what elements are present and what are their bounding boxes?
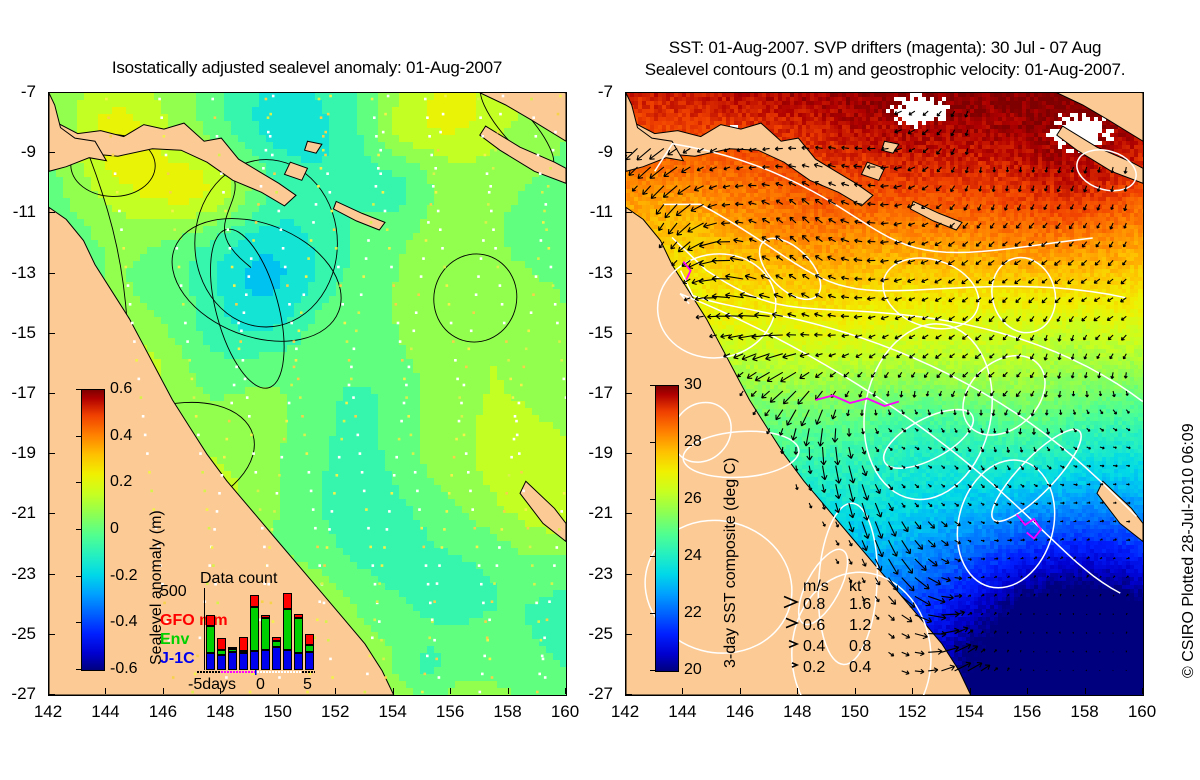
x-tick-mark bbox=[565, 688, 566, 694]
colorbar-tick-mark bbox=[76, 436, 82, 437]
colorbar-tick-label: -0.4 bbox=[110, 613, 138, 631]
x-tick-mark bbox=[335, 688, 336, 694]
inset-bar-segment bbox=[261, 615, 270, 618]
y-tick-label: -9 bbox=[21, 142, 36, 162]
x-tick-label: 144 bbox=[91, 702, 119, 722]
right-panel-title-line2: Sealevel contours (0.1 m) and geostrophi… bbox=[605, 60, 1165, 80]
inset-bar-segment bbox=[272, 641, 281, 647]
y-tick-label: -27 bbox=[11, 684, 36, 704]
velocity-key-kt-value: 0.4 bbox=[849, 659, 871, 677]
colorbar-tick-label: -0.2 bbox=[110, 567, 138, 585]
inset-bar-segment bbox=[294, 614, 303, 618]
x-tick-mark bbox=[970, 688, 971, 694]
colorbar-tick-mark bbox=[76, 622, 82, 623]
x-tick-label: 142 bbox=[34, 702, 62, 722]
inset-bar bbox=[250, 588, 259, 670]
y-tick-mark bbox=[625, 513, 632, 514]
colorbar-tick-mark bbox=[650, 613, 656, 614]
y-tick-mark bbox=[625, 212, 632, 213]
colorbar-tick-mark bbox=[650, 499, 656, 500]
inset-bar-segment bbox=[283, 593, 292, 608]
x-tick-mark bbox=[740, 688, 741, 694]
inset-bar bbox=[305, 588, 314, 670]
y-tick-mark bbox=[625, 453, 632, 454]
x-tick-label: 154 bbox=[955, 702, 983, 722]
y-tick-mark bbox=[48, 333, 55, 334]
x-tick-mark bbox=[855, 688, 856, 694]
y-tick-label: -15 bbox=[11, 323, 36, 343]
y-tick-mark bbox=[48, 574, 55, 575]
inset-bar-segment bbox=[250, 607, 259, 651]
inset-xlabel-left: -5days bbox=[188, 676, 236, 694]
x-tick-mark bbox=[278, 688, 279, 694]
data-count-inset: Data count 500 GFO mm Env J-1C -5days 0 … bbox=[160, 570, 320, 690]
x-tick-mark bbox=[450, 688, 451, 694]
inset-title: Data count bbox=[200, 570, 277, 588]
inset-ymax-label: 500 bbox=[160, 583, 187, 601]
inset-bars bbox=[205, 588, 315, 670]
inset-bar-segment bbox=[217, 638, 226, 650]
colorbar-tick-label: 26 bbox=[684, 490, 702, 508]
y-tick-mark bbox=[625, 152, 632, 153]
y-tick-mark bbox=[625, 333, 632, 334]
x-tick-mark bbox=[682, 688, 683, 694]
inset-bar-segment bbox=[228, 652, 237, 670]
inset-xlabel-right: 5 bbox=[303, 676, 312, 694]
csiro-credit: © CSIRO Plotted 28-Jul-2010 06:09 bbox=[1180, 423, 1198, 678]
y-tick-mark bbox=[48, 634, 55, 635]
y-tick-label: -19 bbox=[11, 443, 36, 463]
inset-bar bbox=[239, 588, 248, 670]
colorbar-tick-label: 22 bbox=[684, 604, 702, 622]
y-tick-label: -15 bbox=[588, 323, 613, 343]
colorbar-tick-label: 30 bbox=[684, 376, 702, 394]
x-tick-label: 160 bbox=[551, 702, 579, 722]
x-tick-label: 156 bbox=[1013, 702, 1041, 722]
inset-legend-env: Env bbox=[160, 631, 189, 649]
y-tick-label: -9 bbox=[598, 142, 613, 162]
velocity-key-header-ms: m/s bbox=[803, 578, 829, 596]
y-tick-mark bbox=[625, 92, 632, 93]
inset-bar-segment bbox=[283, 609, 292, 650]
x-tick-mark bbox=[1085, 688, 1086, 694]
colorbar-tick-label: 28 bbox=[684, 433, 702, 451]
x-tick-label: 158 bbox=[493, 702, 521, 722]
inset-bar-segment bbox=[228, 649, 237, 652]
colorbar-tick-label: 20 bbox=[684, 661, 702, 679]
right-panel-title-line1: SST: 01-Aug-2007. SVP drifters (magenta)… bbox=[605, 38, 1165, 58]
x-tick-label: 150 bbox=[264, 702, 292, 722]
y-tick-mark bbox=[625, 273, 632, 274]
y-tick-mark bbox=[48, 212, 55, 213]
sst-colorbar bbox=[655, 385, 679, 672]
x-tick-label: 156 bbox=[436, 702, 464, 722]
y-tick-label: -13 bbox=[588, 263, 613, 283]
inset-bar-segment bbox=[206, 626, 215, 652]
y-tick-mark bbox=[625, 694, 632, 695]
colorbar-tick-label: 0.4 bbox=[110, 427, 132, 445]
colorbar-tick-mark bbox=[650, 385, 656, 386]
x-tick-mark bbox=[508, 688, 509, 694]
colorbar-tick-label: 0.6 bbox=[110, 380, 132, 398]
inset-bar bbox=[261, 588, 270, 670]
sealevel-anomaly-colorbar bbox=[81, 389, 105, 671]
x-tick-mark bbox=[1142, 688, 1143, 694]
y-tick-label: -23 bbox=[11, 564, 36, 584]
y-tick-mark bbox=[48, 92, 55, 93]
inset-bar-segment bbox=[305, 652, 314, 670]
x-tick-mark bbox=[912, 688, 913, 694]
colorbar-tick-mark bbox=[650, 442, 656, 443]
inset-bar-segment bbox=[206, 615, 215, 626]
inset-x-axis bbox=[197, 670, 315, 675]
y-tick-mark bbox=[625, 574, 632, 575]
y-tick-label: -25 bbox=[11, 624, 36, 644]
y-tick-mark bbox=[48, 273, 55, 274]
x-tick-label: 150 bbox=[841, 702, 869, 722]
x-tick-mark bbox=[105, 688, 106, 694]
left-panel-title: Isostatically adjusted sealevel anomaly:… bbox=[48, 58, 566, 78]
colorbar-tick-label: -0.6 bbox=[110, 660, 138, 678]
x-tick-label: 158 bbox=[1070, 702, 1098, 722]
x-tick-label: 152 bbox=[321, 702, 349, 722]
x-tick-label: 148 bbox=[206, 702, 234, 722]
y-tick-mark bbox=[625, 393, 632, 394]
y-tick-label: -11 bbox=[13, 202, 36, 222]
velocity-key-kt-value: 1.6 bbox=[849, 596, 871, 614]
y-tick-label: -21 bbox=[11, 503, 36, 523]
x-tick-label: 144 bbox=[668, 702, 696, 722]
y-tick-mark bbox=[48, 513, 55, 514]
velocity-key-arrows bbox=[775, 594, 805, 670]
x-tick-label: 146 bbox=[726, 702, 754, 722]
y-tick-label: -17 bbox=[11, 383, 36, 403]
y-tick-label: -23 bbox=[588, 564, 613, 584]
x-tick-mark bbox=[163, 688, 164, 694]
x-tick-mark bbox=[393, 688, 394, 694]
y-tick-mark bbox=[48, 152, 55, 153]
inset-bar bbox=[206, 588, 215, 670]
x-tick-mark bbox=[220, 688, 221, 694]
inset-bar-segment bbox=[239, 653, 248, 670]
y-tick-label: -25 bbox=[588, 624, 613, 644]
inset-bar-segment bbox=[283, 650, 292, 670]
y-tick-mark bbox=[48, 694, 55, 695]
inset-xlabel-center: 0 bbox=[256, 676, 265, 694]
inset-bar-segment bbox=[239, 651, 248, 653]
inset-bar-segment bbox=[250, 595, 259, 607]
velocity-key-ms-value: 0.6 bbox=[803, 617, 825, 635]
inset-bar-segment bbox=[272, 637, 281, 641]
inset-bar-segment bbox=[217, 655, 226, 670]
velocity-key: m/s kt 0.81.60.61.20.40.80.20.4 bbox=[775, 578, 905, 668]
inset-legend-j1c: J-1C bbox=[160, 650, 195, 668]
inset-bar bbox=[294, 588, 303, 670]
x-tick-label: 142 bbox=[611, 702, 639, 722]
colorbar-tick-label: 24 bbox=[684, 547, 702, 565]
inset-bar-segment bbox=[305, 645, 314, 651]
velocity-key-header-kt: kt bbox=[849, 578, 861, 596]
inset-bar-segment bbox=[294, 653, 303, 670]
inset-bar-segment bbox=[305, 634, 314, 645]
colorbar-tick-mark bbox=[650, 556, 656, 557]
y-tick-mark bbox=[48, 453, 55, 454]
x-tick-mark bbox=[1027, 688, 1028, 694]
colorbar-tick-mark bbox=[76, 529, 82, 530]
inset-bar-segment bbox=[239, 637, 248, 651]
inset-bar-segment bbox=[206, 653, 215, 670]
colorbar-tick-mark bbox=[650, 670, 656, 671]
x-tick-label: 146 bbox=[149, 702, 177, 722]
colorbar-tick-mark bbox=[76, 389, 82, 390]
y-tick-label: -13 bbox=[11, 263, 36, 283]
colorbar-tick-mark bbox=[76, 669, 82, 670]
y-tick-label: -17 bbox=[588, 383, 613, 403]
inset-bar-segment bbox=[228, 647, 237, 649]
inset-bar-segment bbox=[250, 651, 259, 670]
velocity-key-ms-value: 0.4 bbox=[803, 638, 825, 656]
inset-bar-segment bbox=[294, 618, 303, 653]
colorbar-tick-mark bbox=[76, 576, 82, 577]
y-tick-label: -21 bbox=[588, 503, 613, 523]
y-tick-label: -27 bbox=[588, 684, 613, 704]
inset-bar-segment bbox=[261, 650, 270, 670]
y-tick-label: -11 bbox=[590, 202, 613, 222]
x-tick-label: 148 bbox=[783, 702, 811, 722]
y-tick-label: -7 bbox=[598, 82, 613, 102]
inset-bar-segment bbox=[217, 650, 226, 655]
inset-bar-segment bbox=[272, 647, 281, 670]
y-tick-label: -19 bbox=[588, 443, 613, 463]
inset-bar-segment bbox=[261, 618, 270, 650]
velocity-key-ms-value: 0.2 bbox=[803, 659, 825, 677]
colorbar-tick-mark bbox=[76, 482, 82, 483]
velocity-key-kt-value: 0.8 bbox=[849, 638, 871, 656]
y-tick-mark bbox=[48, 393, 55, 394]
inset-bar bbox=[228, 588, 237, 670]
x-tick-label: 160 bbox=[1128, 702, 1156, 722]
colorbar-tick-label: 0 bbox=[110, 520, 119, 538]
inset-bar bbox=[272, 588, 281, 670]
x-tick-label: 152 bbox=[898, 702, 926, 722]
y-tick-mark bbox=[625, 634, 632, 635]
sst-colorbar-label: 3-day SST composite (deg C) bbox=[722, 458, 740, 668]
x-tick-label: 154 bbox=[378, 702, 406, 722]
x-tick-mark bbox=[797, 688, 798, 694]
y-tick-label: -7 bbox=[21, 82, 36, 102]
inset-bar bbox=[217, 588, 226, 670]
inset-bar bbox=[283, 588, 292, 670]
colorbar-tick-label: 0.2 bbox=[110, 473, 132, 491]
velocity-key-kt-value: 1.2 bbox=[849, 617, 871, 635]
velocity-key-ms-value: 0.8 bbox=[803, 596, 825, 614]
